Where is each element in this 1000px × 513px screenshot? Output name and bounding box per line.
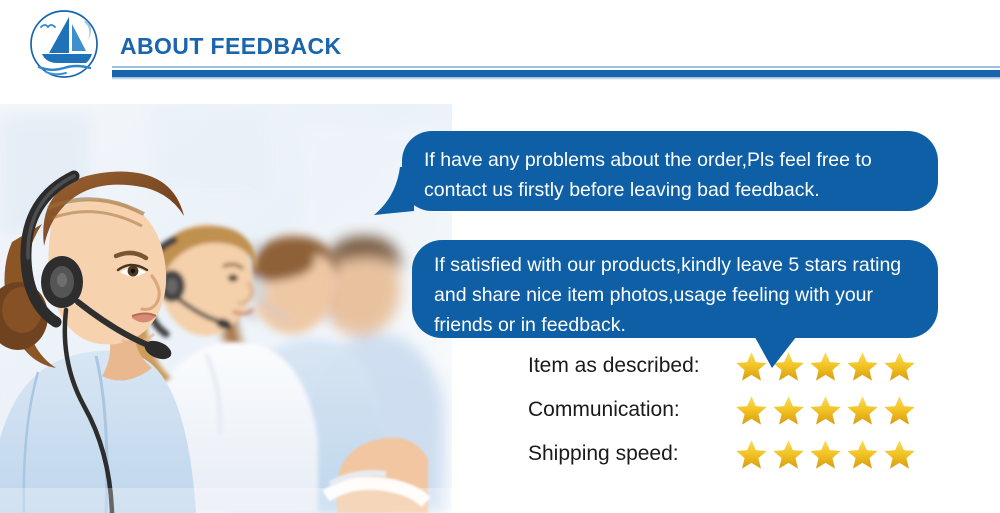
header-divider-shadow bbox=[112, 77, 1000, 80]
rating-label: Item as described: bbox=[528, 354, 700, 378]
star-filled-icon bbox=[734, 394, 769, 428]
rating-row-shipping-speed: Shipping speed: bbox=[528, 436, 928, 480]
header-divider-thin bbox=[112, 66, 1000, 68]
star-filled-icon bbox=[808, 438, 843, 472]
star-filled-icon bbox=[734, 438, 769, 472]
star-filled-icon bbox=[882, 394, 917, 428]
rating-row-communication: Communication: bbox=[528, 392, 928, 436]
speech-bubble-problems: If have any problems about the order,Pls… bbox=[402, 131, 938, 211]
star-filled-icon bbox=[882, 350, 917, 384]
call-center-photo bbox=[0, 104, 452, 513]
rating-label: Communication: bbox=[528, 398, 680, 422]
sailboat-circle-logo-icon bbox=[16, 6, 112, 82]
rating-row-item-as-described: Item as described: bbox=[528, 348, 928, 392]
bubble-text-problems: If have any problems about the order,Pls… bbox=[424, 145, 916, 205]
page-title: ABOUT FEEDBACK bbox=[120, 33, 342, 60]
bubble-text-satisfied: If satisfied with our products,kindly le… bbox=[434, 250, 916, 340]
star-filled-icon bbox=[845, 394, 880, 428]
rating-stars-communication bbox=[734, 394, 917, 428]
star-filled-icon bbox=[845, 438, 880, 472]
page-header: ABOUT FEEDBACK bbox=[0, 0, 1000, 100]
rating-stars-shipping-speed bbox=[734, 438, 917, 472]
rating-label: Shipping speed: bbox=[528, 442, 679, 466]
star-filled-icon bbox=[808, 394, 843, 428]
star-filled-icon bbox=[808, 350, 843, 384]
rating-list: Item as described: Communication: Shippi… bbox=[528, 348, 928, 480]
star-filled-icon bbox=[771, 394, 806, 428]
header-divider-thick bbox=[112, 70, 1000, 77]
bubble-tail-left bbox=[374, 167, 414, 215]
feedback-banner: ABOUT FEEDBACK bbox=[0, 0, 1000, 513]
star-filled-icon bbox=[845, 350, 880, 384]
star-filled-icon bbox=[771, 438, 806, 472]
speech-bubble-satisfied: If satisfied with our products,kindly le… bbox=[412, 240, 938, 338]
star-filled-icon bbox=[882, 438, 917, 472]
